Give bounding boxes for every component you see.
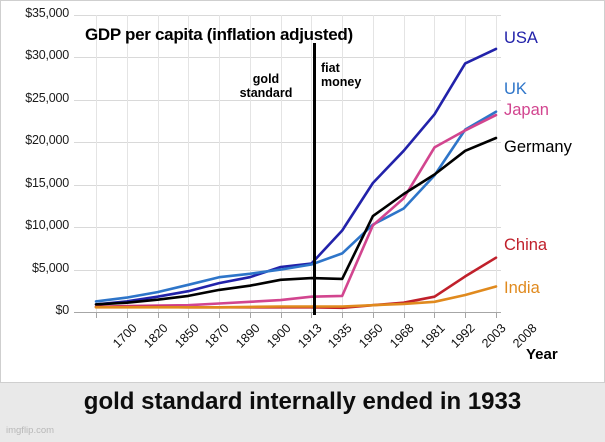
x-axis-tick xyxy=(96,313,97,318)
series-label-usa: USA xyxy=(504,29,538,48)
chart-title: GDP per capita (inflation adjusted) xyxy=(85,25,353,45)
series-line-germany xyxy=(96,138,496,304)
x-axis-tick xyxy=(342,313,343,318)
series-label-uk: UK xyxy=(504,80,527,99)
x-axis-tick xyxy=(250,313,251,318)
x-axis-tick xyxy=(219,313,220,318)
x-axis-tick xyxy=(127,313,128,318)
caption-text: gold standard internally ended in 1933 xyxy=(0,388,605,416)
x-axis-tick xyxy=(496,313,497,318)
x-axis-tick xyxy=(188,313,189,318)
x-axis-tick xyxy=(281,313,282,318)
series-line-uk xyxy=(96,112,496,302)
series-lines-layer xyxy=(1,1,605,384)
imgflip-watermark: imgflip.com xyxy=(6,425,54,436)
series-label-japan: Japan xyxy=(504,101,549,120)
annotation-fiat-money-line2: money xyxy=(321,75,361,89)
meme-image-root: $35,000$30,000$25,000$20,000$15,000$10,0… xyxy=(0,0,605,442)
series-label-china: China xyxy=(504,236,547,255)
x-axis-tick xyxy=(158,313,159,318)
x-axis-tick xyxy=(373,313,374,318)
x-axis-tick xyxy=(311,313,312,318)
chart-card: $35,000$30,000$25,000$20,000$15,000$10,0… xyxy=(0,0,605,383)
x-axis-tick xyxy=(404,313,405,318)
regime-divider-line xyxy=(313,43,316,315)
series-label-germany: Germany xyxy=(504,138,572,157)
annotation-fiat-money-line1: fiat xyxy=(321,61,340,75)
annotation-gold-standard-line1: gold xyxy=(253,72,279,86)
annotation-gold-standard-line2: standard xyxy=(240,86,293,100)
caption-bar: gold standard internally ended in 1933 i… xyxy=(0,383,605,442)
annotation-fiat-money: fiat money xyxy=(321,61,391,89)
x-axis-tick xyxy=(434,313,435,318)
series-label-india: India xyxy=(504,279,540,298)
annotation-gold-standard: gold standard xyxy=(223,72,309,100)
x-axis-title: Year xyxy=(526,346,558,363)
x-axis-tick xyxy=(465,313,466,318)
